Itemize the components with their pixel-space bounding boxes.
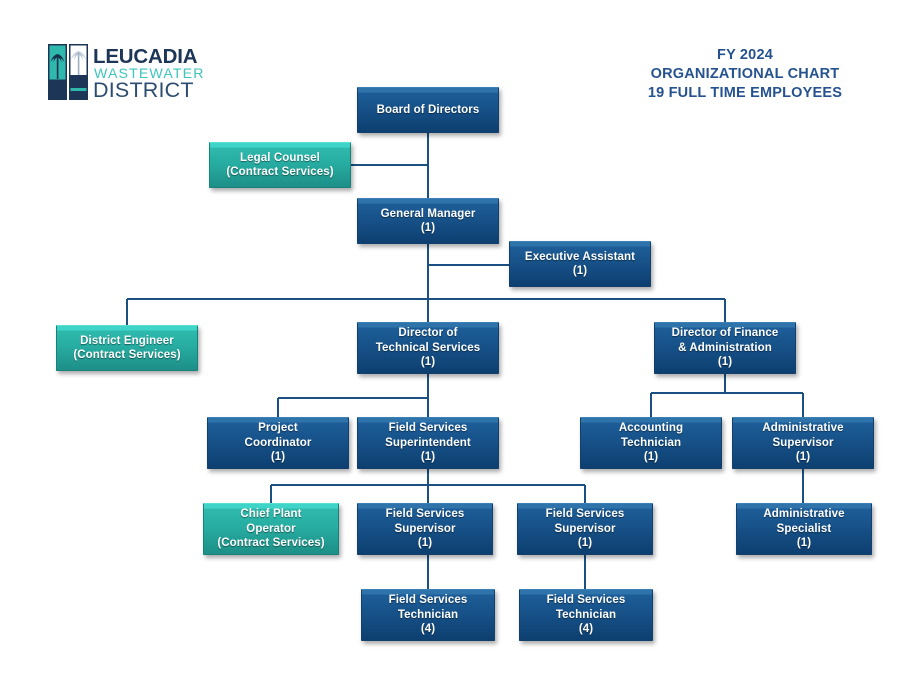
org-node-text-line: Superintendent — [385, 436, 471, 451]
org-node-legal-counsel[interactable]: Legal Counsel(Contract Services) — [209, 142, 351, 188]
org-node-text-line: Technician — [547, 608, 626, 623]
org-node-text-line: Technician — [619, 436, 683, 451]
org-node-field-services-superintendent[interactable]: Field ServicesSuperintendent(1) — [357, 417, 499, 469]
org-node-text-line: Accounting — [619, 421, 683, 436]
org-node-text-line: Field Services — [385, 421, 471, 436]
org-node-label-administrative-specialist: AdministrativeSpecialist(1) — [759, 507, 848, 551]
org-node-field-services-technician-2[interactable]: Field ServicesTechnician(4) — [519, 589, 653, 641]
org-node-text-line: (1) — [385, 450, 471, 465]
org-node-text-line: Supervisor — [386, 522, 465, 537]
org-chart-canvas: LEUCADIA WASTEWATER DISTRICT FY 2024 ORG… — [0, 0, 908, 681]
org-node-administrative-specialist[interactable]: AdministrativeSpecialist(1) — [736, 503, 872, 555]
org-node-field-services-supervisor-1[interactable]: Field ServicesSupervisor(1) — [357, 503, 493, 555]
org-node-label-legal-counsel: Legal Counsel(Contract Services) — [222, 151, 337, 180]
org-node-general-manager[interactable]: General Manager(1) — [357, 198, 499, 244]
org-node-text-line: (1) — [762, 450, 843, 465]
org-node-label-chief-plant-operator: Chief PlantOperator(Contract Services) — [213, 507, 328, 551]
org-node-text-line: (1) — [763, 536, 844, 551]
org-node-administrative-supervisor[interactable]: AdministrativeSupervisor(1) — [732, 417, 874, 469]
org-node-text-line: (1) — [619, 450, 683, 465]
district-logo: LEUCADIA WASTEWATER DISTRICT — [48, 42, 208, 104]
org-node-text-line: General Manager — [381, 207, 476, 222]
org-node-text-line: Coordinator — [245, 436, 312, 451]
org-node-text-line: Specialist — [763, 522, 844, 537]
org-node-text-line: Project — [245, 421, 312, 436]
logo-svg: LEUCADIA WASTEWATER DISTRICT — [48, 42, 208, 104]
org-node-text-line: Operator — [217, 522, 324, 537]
org-node-project-coordinator[interactable]: ProjectCoordinator(1) — [207, 417, 349, 469]
org-node-label-field-services-superintendent: Field ServicesSuperintendent(1) — [381, 421, 475, 465]
org-node-label-district-engineer: District Engineer(Contract Services) — [69, 334, 184, 363]
org-node-label-project-coordinator: ProjectCoordinator(1) — [241, 421, 316, 465]
org-node-text-line: (Contract Services) — [226, 165, 333, 180]
org-node-text-line: (1) — [245, 450, 312, 465]
org-node-text-line: Supervisor — [546, 522, 625, 537]
org-node-text-line: Director of — [376, 326, 481, 341]
org-node-text-line: Executive Assistant — [525, 250, 635, 265]
org-node-label-field-services-technician-2: Field ServicesTechnician(4) — [543, 593, 630, 637]
org-node-field-services-supervisor-2[interactable]: Field ServicesSupervisor(1) — [517, 503, 653, 555]
org-node-text-line: Supervisor — [762, 436, 843, 451]
org-node-label-field-services-supervisor-2: Field ServicesSupervisor(1) — [542, 507, 629, 551]
org-node-text-line: Director of Finance — [672, 326, 779, 341]
org-node-text-line: (1) — [386, 536, 465, 551]
org-node-label-field-services-technician-1: Field ServicesTechnician(4) — [385, 593, 472, 637]
org-node-board[interactable]: Board of Directors — [357, 87, 499, 133]
org-node-label-administrative-supervisor: AdministrativeSupervisor(1) — [758, 421, 847, 465]
chart-title: FY 2024 ORGANIZATIONAL CHART 19 FULL TIM… — [600, 46, 890, 103]
org-node-district-engineer[interactable]: District Engineer(Contract Services) — [56, 325, 198, 371]
logo-line-3: DISTRICT — [93, 78, 194, 102]
org-node-label-field-services-supervisor-1: Field ServicesSupervisor(1) — [382, 507, 469, 551]
org-node-text-line: (1) — [525, 264, 635, 279]
org-node-label-accounting-technician: AccountingTechnician(1) — [615, 421, 687, 465]
org-node-label-general-manager: General Manager(1) — [377, 207, 480, 236]
chart-title-line-2: ORGANIZATIONAL CHART — [600, 65, 890, 84]
org-node-text-line: Technician — [389, 608, 468, 623]
org-node-accounting-technician[interactable]: AccountingTechnician(1) — [580, 417, 722, 469]
org-node-text-line: (1) — [381, 221, 476, 236]
org-node-chief-plant-operator[interactable]: Chief PlantOperator(Contract Services) — [203, 503, 339, 555]
org-node-director-technical-services[interactable]: Director ofTechnical Services(1) — [357, 322, 499, 374]
org-node-text-line: (1) — [376, 355, 481, 370]
org-node-text-line: Field Services — [389, 593, 468, 608]
org-node-text-line: Field Services — [546, 507, 625, 522]
org-node-label-executive-assistant: Executive Assistant(1) — [521, 250, 639, 279]
org-node-text-line: & Administration — [672, 341, 779, 356]
org-node-text-line: Field Services — [386, 507, 465, 522]
org-node-text-line: District Engineer — [73, 334, 180, 349]
org-node-executive-assistant[interactable]: Executive Assistant(1) — [509, 241, 651, 287]
org-node-label-director-technical-services: Director ofTechnical Services(1) — [372, 326, 485, 370]
org-node-text-line: Technical Services — [376, 341, 481, 356]
logo-line-1: LEUCADIA — [93, 45, 198, 68]
org-node-text-line: Board of Directors — [377, 103, 480, 118]
org-node-text-line: (Contract Services) — [73, 348, 180, 363]
org-node-field-services-technician-1[interactable]: Field ServicesTechnician(4) — [361, 589, 495, 641]
org-node-text-line: (4) — [547, 622, 626, 637]
org-node-text-line: (Contract Services) — [217, 536, 324, 551]
org-node-director-finance-administration[interactable]: Director of Finance& Administration(1) — [654, 322, 796, 374]
org-node-text-line: (4) — [389, 622, 468, 637]
org-node-text-line: Administrative — [763, 507, 844, 522]
chart-title-line-3: 19 FULL TIME EMPLOYEES — [600, 84, 890, 103]
org-node-text-line: (1) — [546, 536, 625, 551]
org-node-text-line: Legal Counsel — [226, 151, 333, 166]
org-node-text-line: Administrative — [762, 421, 843, 436]
chart-title-line-1: FY 2024 — [600, 46, 890, 65]
org-node-label-board: Board of Directors — [373, 103, 484, 118]
org-node-text-line: (1) — [672, 355, 779, 370]
org-node-text-line: Field Services — [547, 593, 626, 608]
org-node-label-director-finance-administration: Director of Finance& Administration(1) — [668, 326, 783, 370]
org-node-text-line: Chief Plant — [217, 507, 324, 522]
